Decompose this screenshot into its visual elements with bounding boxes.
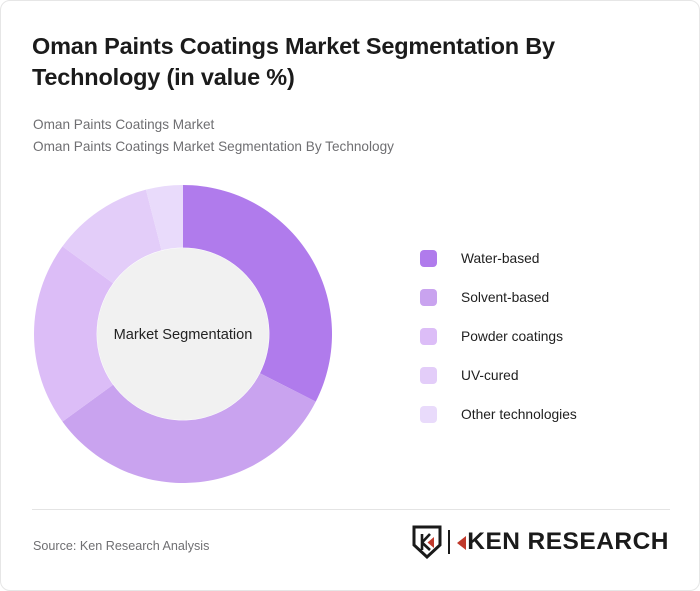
legend-item[interactable]: Solvent-based (420, 278, 670, 317)
chart-card: Oman Paints Coatings Market Segmentation… (0, 0, 700, 591)
shield-logo-icon (412, 525, 442, 559)
source-note: Source: Ken Research Analysis (33, 539, 209, 553)
subtitle-segmentation: Oman Paints Coatings Market Segmentation… (33, 136, 633, 158)
legend-item[interactable]: Powder coatings (420, 317, 670, 356)
logo-text-ken: KEN (467, 528, 520, 556)
page-title: Oman Paints Coatings Market Segmentation… (32, 31, 632, 93)
subtitle-market: Oman Paints Coatings Market (33, 114, 633, 136)
legend-swatch-icon (420, 289, 437, 306)
legend-label: UV-cured (461, 368, 519, 383)
legend-swatch-icon (420, 328, 437, 345)
donut-chart: Market Segmentation (33, 183, 333, 485)
logo-wordmark: KEN RESEARCH (457, 528, 669, 556)
legend-label: Other technologies (461, 407, 577, 422)
legend-swatch-icon (420, 250, 437, 267)
logo-divider (448, 530, 450, 554)
legend-item[interactable]: Other technologies (420, 395, 670, 434)
ken-research-logo: KEN RESEARCH (412, 525, 669, 559)
legend-label: Powder coatings (461, 329, 563, 344)
footer-divider (32, 509, 670, 510)
legend-swatch-icon (420, 406, 437, 423)
legend-label: Solvent-based (461, 290, 549, 305)
triangle-icon (457, 536, 466, 550)
legend-swatch-icon (420, 367, 437, 384)
legend-item[interactable]: UV-cured (420, 356, 670, 395)
logo-text-research: RESEARCH (528, 528, 670, 556)
subtitle-block: Oman Paints Coatings Market Oman Paints … (33, 114, 633, 158)
chart-legend: Water-basedSolvent-basedPowder coatingsU… (420, 239, 670, 434)
donut-center-label: Market Segmentation (114, 327, 253, 343)
legend-item[interactable]: Water-based (420, 239, 670, 278)
donut-svg: Market Segmentation (33, 183, 333, 485)
chart-area: Market Segmentation Water-basedSolvent-b… (1, 161, 700, 501)
legend-label: Water-based (461, 251, 539, 266)
